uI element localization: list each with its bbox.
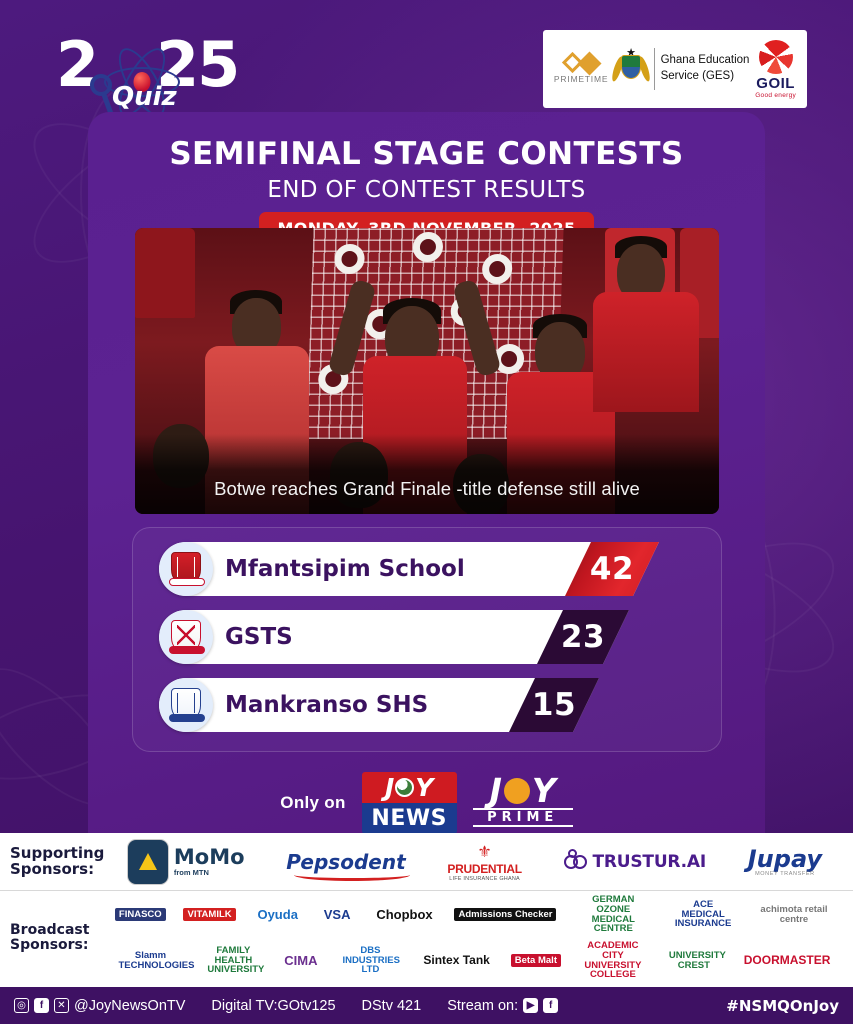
digital-tv-info: Digital TV:GOtv125: [211, 998, 335, 1014]
sponsor-logo: CIMA: [280, 952, 321, 970]
sponsor-logo: VITAMILK: [183, 908, 235, 922]
sponsor-logo: Slamm TECHNOLOGIES: [114, 949, 186, 973]
sponsor-logo: UNIVERSITY CREST: [665, 949, 723, 973]
sponsor-logo: Admissions Checker: [454, 908, 556, 922]
only-on-label: Only on: [280, 793, 345, 813]
ges-label: Ghana Education Service (GES): [661, 53, 750, 84]
sponsor-logo: DOORMASTER: [740, 952, 835, 969]
sponsor-pepsodent: Pepsodent: [286, 850, 405, 874]
sponsor-logo: FINASCO: [115, 908, 166, 922]
sponsor-logo: FAMILY HEALTH UNIVERSITY: [203, 944, 263, 978]
sponsor-logo: ACADEMIC CITY UNIVERSITY COLLEGE: [578, 939, 648, 983]
poster-root: 2 25 Quiz PRIMETIME ★: [0, 0, 853, 1024]
sponsors-section: Supporting Sponsors: MoMo from MTN Pepso…: [0, 833, 853, 985]
joy-prime-logo: J Y PRIME: [473, 774, 573, 832]
mfantsipim-crest: [159, 542, 213, 596]
social-handle-text: @JoyNewsOnTV: [74, 998, 185, 1014]
footer-bar: ◎ f ✕ @JoyNewsOnTV Digital TV:GOtv125 DS…: [0, 985, 853, 1024]
x-twitter-icon[interactable]: ✕: [54, 998, 69, 1013]
ghana-coat-of-arms-icon: ★: [614, 47, 648, 91]
stream-on-label: Stream on:: [447, 998, 518, 1014]
joy-news-logo: J Y NEWS: [362, 772, 457, 834]
prudential-icon: ⚜: [447, 842, 521, 862]
dstv-info: DStv 421: [362, 998, 422, 1014]
goil-logo: GOIL Good energy: [755, 40, 796, 99]
sponsor-momo: MoMo from MTN: [127, 839, 245, 885]
school-name: Mfantsipim School: [225, 556, 465, 582]
sponsor-logo: GERMAN OZONE MEDICAL CENTRE: [574, 893, 652, 937]
facebook-icon[interactable]: f: [543, 998, 558, 1013]
table-row[interactable]: GSTS 23: [159, 610, 629, 664]
youtube-icon[interactable]: ▶: [523, 998, 538, 1013]
mankranso-crest: [159, 678, 213, 732]
photo-caption-text: Botwe reaches Grand Finale -title defens…: [214, 478, 640, 500]
hashtag: #NSMQOnJoy: [726, 997, 839, 1015]
facebook-icon[interactable]: f: [34, 998, 49, 1013]
sponsor-prudential: ⚜ PRUDENTIAL LIFE INSURANCE GHANA: [447, 842, 521, 882]
sponsor-logo: Sintex Tank: [419, 952, 493, 969]
globe-icon: [395, 778, 414, 797]
school-name: Mankranso SHS: [225, 692, 428, 718]
sponsor-logo: DBS INDUSTRIES LTD: [338, 944, 402, 978]
top-sponsor-bar: PRIMETIME ★ Ghana Education Service (GES…: [543, 30, 807, 108]
page-subtitle: END OF CONTEST RESULTS: [88, 177, 765, 203]
photo-caption: Botwe reaches Grand Finale -title defens…: [135, 434, 719, 514]
gsts-crest: [159, 610, 213, 664]
supporting-sponsors-label: Supporting Sponsors:: [10, 846, 106, 878]
instagram-icon[interactable]: ◎: [14, 998, 29, 1013]
contest-photo: Botwe reaches Grand Finale -title defens…: [135, 228, 719, 514]
header-block: SEMIFINAL STAGE CONTESTS END OF CONTEST …: [88, 112, 765, 246]
stream-on[interactable]: Stream on: ▶ f: [447, 998, 558, 1014]
table-row[interactable]: Mfantsipim School 42: [159, 542, 659, 596]
social-handles[interactable]: ◎ f ✕ @JoyNewsOnTV: [14, 998, 185, 1014]
sponsor-jupay: Jupay MONEY TRANSFER: [748, 847, 822, 877]
school-name: GSTS: [225, 624, 293, 650]
sponsor-logo: achimota retail centre: [754, 903, 834, 927]
sponsor-logo: VSA: [320, 906, 355, 924]
main-panel: SEMIFINAL STAGE CONTESTS END OF CONTEST …: [88, 112, 765, 833]
sponsor-logo: Beta Malt: [511, 954, 561, 968]
broadcast-logo-line-1: FINASCO VITAMILK Oyuda VSA Chopbox Admis…: [106, 893, 843, 937]
broadcast-channels: Only on J Y NEWS J Y PRIME: [88, 772, 765, 834]
supporting-sponsors-row: Supporting Sponsors: MoMo from MTN Pepso…: [0, 833, 853, 891]
top-bar: 2 25 Quiz PRIMETIME ★: [0, 0, 853, 112]
broadcast-logo-line-2: Slamm TECHNOLOGIES FAMILY HEALTH UNIVERS…: [106, 939, 843, 983]
table-row[interactable]: Mankranso SHS 15: [159, 678, 599, 732]
primetime-label: PRIMETIME: [554, 74, 608, 84]
page-title: SEMIFINAL STAGE CONTESTS: [88, 136, 765, 172]
divider: [654, 48, 655, 90]
primetime-logo: PRIMETIME: [554, 55, 608, 84]
trustur-mark-icon: [564, 849, 590, 875]
broadcast-sponsors-row: Broadcast Sponsors: FINASCO VITAMILK Oyu…: [0, 891, 853, 984]
results-card: Mfantsipim School 42 GSTS 23: [132, 527, 722, 752]
goil-mark-icon: [759, 40, 793, 74]
orange-dot-icon: [504, 778, 530, 804]
sponsor-trustur: TRUSTUR.AI: [564, 849, 706, 875]
sponsor-logo: Chopbox: [372, 906, 436, 924]
sponsor-logo: Oyuda: [253, 906, 301, 924]
sponsor-logo: ACE MEDICAL INSURANCE: [670, 898, 736, 932]
broadcast-sponsors-label: Broadcast Sponsors:: [10, 923, 106, 952]
nsmq-logo: 2 25 Quiz: [52, 26, 252, 112]
